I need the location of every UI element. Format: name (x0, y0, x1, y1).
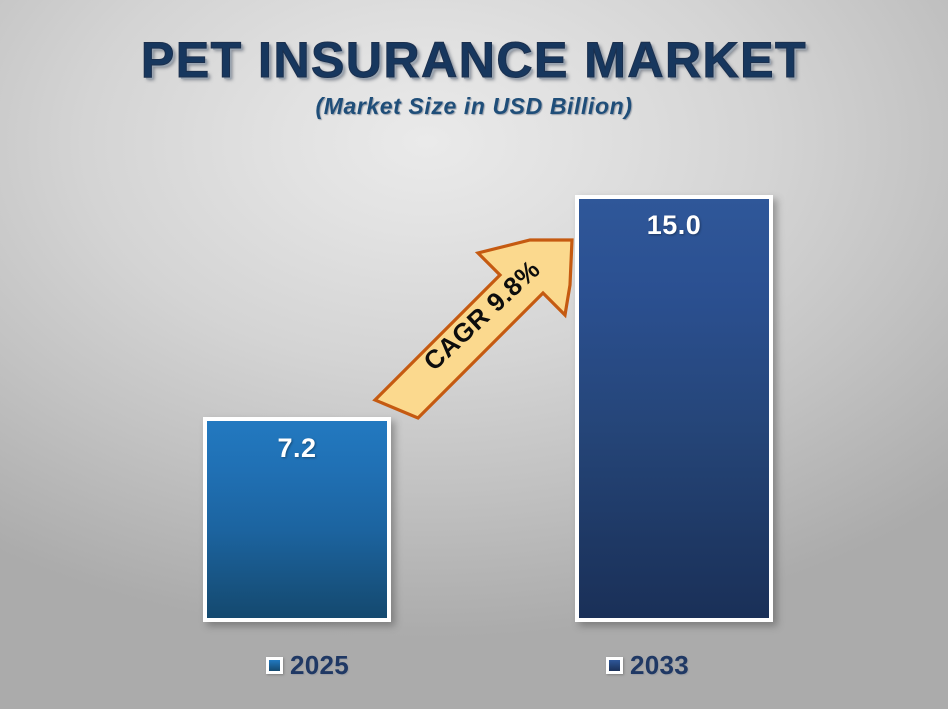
bar-value-2025: 7.2 (207, 433, 387, 464)
legend-label-2033: 2033 (630, 650, 689, 681)
chart-canvas: PET INSURANCE MARKET (Market Size in USD… (0, 0, 948, 709)
legend-swatch-2025 (266, 657, 283, 674)
legend-label-2025: 2025 (290, 650, 349, 681)
cagr-label: CAGR 9.8% (406, 243, 559, 388)
legend-swatch-2033 (606, 657, 623, 674)
legend-item-2025[interactable]: 2025 (266, 650, 349, 681)
title-block: PET INSURANCE MARKET (Market Size in USD… (0, 34, 948, 120)
page-subtitle: (Market Size in USD Billion) (0, 93, 948, 120)
bar-2033: 15.0 (575, 195, 773, 622)
bar-2025: 7.2 (203, 417, 391, 622)
bar-value-2033: 15.0 (579, 210, 769, 241)
page-title: PET INSURANCE MARKET (0, 34, 948, 87)
legend-item-2033[interactable]: 2033 (606, 650, 689, 681)
